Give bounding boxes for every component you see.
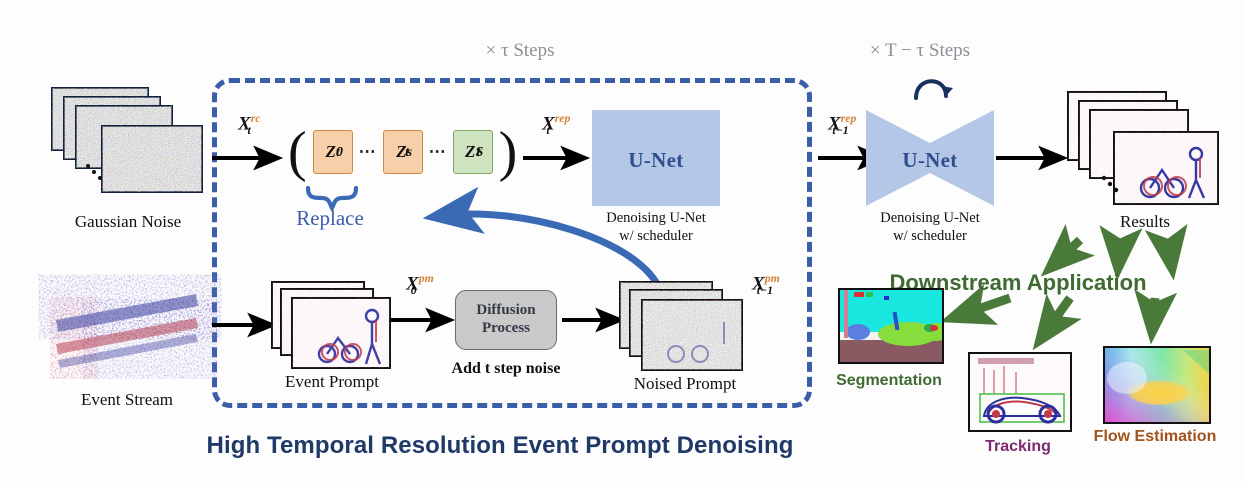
unet-2-title: U-Net	[866, 148, 994, 173]
unet-2-caption-line1: Denoising U-Net	[866, 210, 994, 228]
diffusion-line-2: Process	[482, 320, 530, 338]
main-title: High Temporal Resolution Event Prompt De…	[0, 432, 1000, 460]
unet-1-caption-line2: w/ scheduler	[592, 228, 720, 246]
signal-x-rep-t: Xrept	[542, 112, 550, 138]
latent-close-paren: )	[499, 130, 518, 175]
unet-1-caption-line1: Denoising U-Net	[592, 210, 720, 228]
latent-token-group: ( Z0t ⋯ Zst ⋯ ZSt )	[288, 130, 517, 175]
noised-prompt-stack	[620, 282, 745, 370]
steps-label-right: × T − τ Steps	[870, 40, 970, 62]
latent-ellipsis-2: ⋯	[429, 142, 447, 162]
unet-1-title: U-Net	[592, 148, 720, 173]
event-prompt-stack	[272, 282, 390, 368]
task-label-flow-estimation: Flow Estimation	[1094, 428, 1217, 446]
steps-label-left: × τ Steps	[485, 40, 554, 62]
signal-x-rep-tm1: Xrept−1	[828, 112, 849, 138]
unet-1-caption: Denoising U-Net w/ scheduler	[592, 210, 720, 245]
latent-open-paren: (	[288, 130, 307, 175]
diffusion-process-box[interactable]: Diffusion Process	[455, 290, 557, 350]
signal-x-pm-0: Xpm0	[406, 272, 417, 298]
latent-token-s[interactable]: Zst	[383, 130, 423, 174]
latent-token-0[interactable]: Z0t	[313, 130, 353, 174]
unet-2[interactable]: U-Net	[866, 110, 994, 206]
latent-token-S[interactable]: ZSt	[453, 130, 493, 174]
event-stream-label: Event Stream	[46, 390, 208, 410]
event-stream-cloud	[46, 272, 206, 382]
gaussian-noise-stack	[52, 88, 202, 198]
segmentation-image	[838, 288, 944, 364]
figure-canvas: × τ Steps × T − τ Steps	[0, 0, 1244, 486]
tracking-image	[968, 352, 1072, 432]
unet-2-caption-line2: w/ scheduler	[866, 228, 994, 246]
latent-ellipsis-1: ⋯	[359, 142, 377, 162]
diffusion-line-1: Diffusion	[476, 302, 535, 320]
event-prompt-label: Event Prompt	[262, 372, 402, 392]
signal-x-rc: Xrct	[238, 112, 251, 138]
noised-prompt-label: Noised Prompt	[612, 374, 758, 394]
gaussian-noise-label: Gaussian Noise	[52, 212, 204, 232]
results-stack	[1068, 92, 1218, 204]
unet-1[interactable]: U-Net	[592, 110, 720, 206]
unet-2-caption: Denoising U-Net w/ scheduler	[866, 210, 994, 245]
replace-label: Replace	[296, 206, 364, 231]
results-label: Results	[1090, 212, 1200, 232]
flow-estimation-image	[1103, 346, 1211, 424]
task-label-segmentation: Segmentation	[836, 372, 942, 390]
diffusion-caption: Add t step noise	[438, 360, 574, 378]
signal-x-pm-tm1: Xpmt−1	[752, 272, 773, 298]
